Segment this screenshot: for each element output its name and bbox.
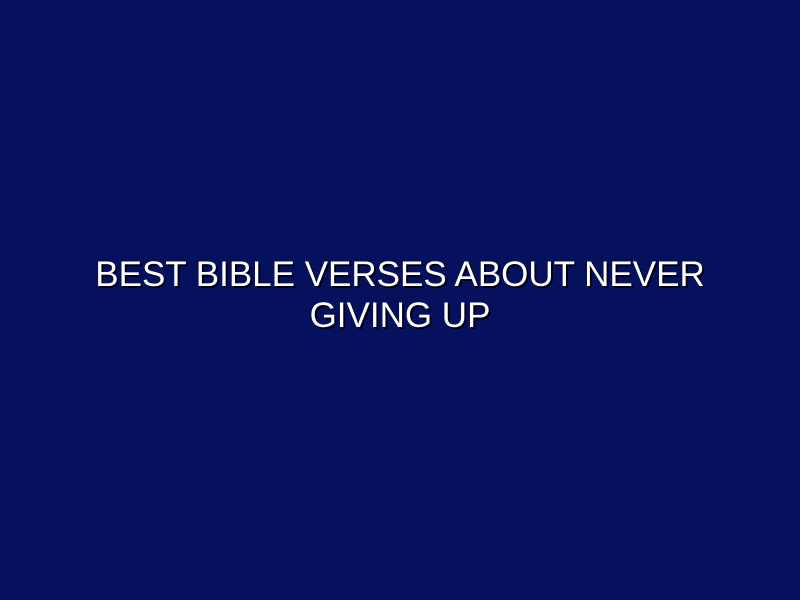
page-title: BEST BIBLE VERSES ABOUT NEVER GIVING UP [90,254,710,336]
title-card: BEST BIBLE VERSES ABOUT NEVER GIVING UP [0,0,800,600]
title-block: BEST BIBLE VERSES ABOUT NEVER GIVING UP [90,254,710,336]
